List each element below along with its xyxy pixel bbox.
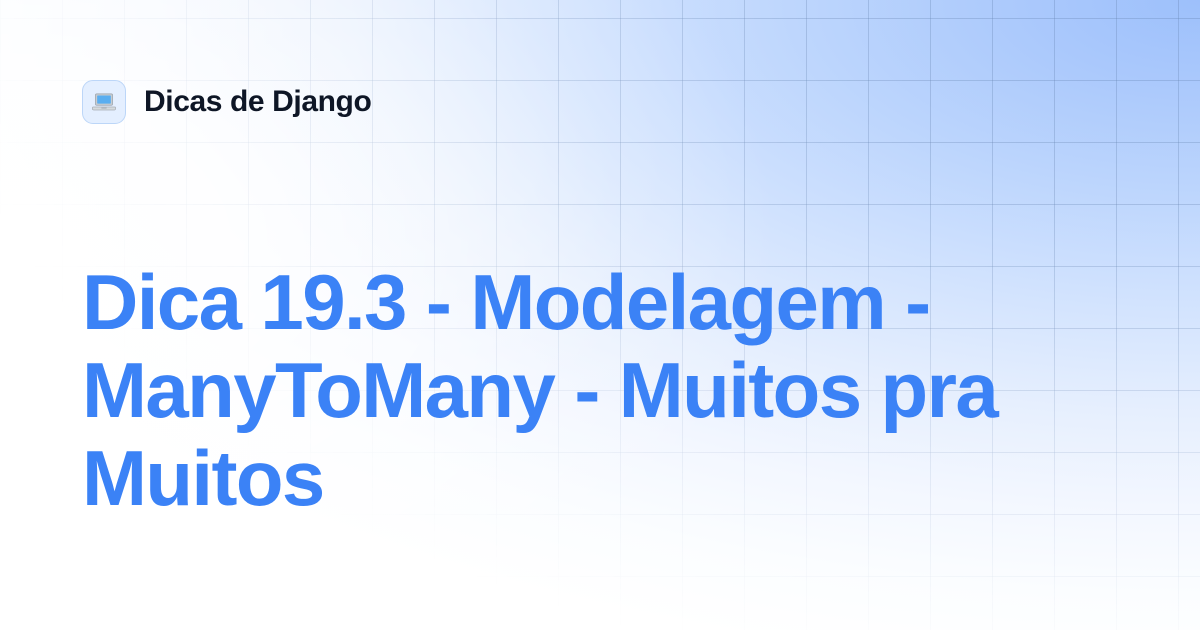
page-title: Dica 19.3 - Modelagem - ManyToMany - Mui…: [82, 258, 1132, 522]
brand-header: Dicas de Django: [82, 80, 371, 124]
brand-badge: [82, 80, 126, 124]
brand-name: Dicas de Django: [144, 87, 371, 117]
laptop-icon: [91, 89, 117, 115]
card-content: Dicas de Django Dica 19.3 - Modelagem - …: [0, 0, 1200, 630]
og-card: Dicas de Django Dica 19.3 - Modelagem - …: [0, 0, 1200, 630]
